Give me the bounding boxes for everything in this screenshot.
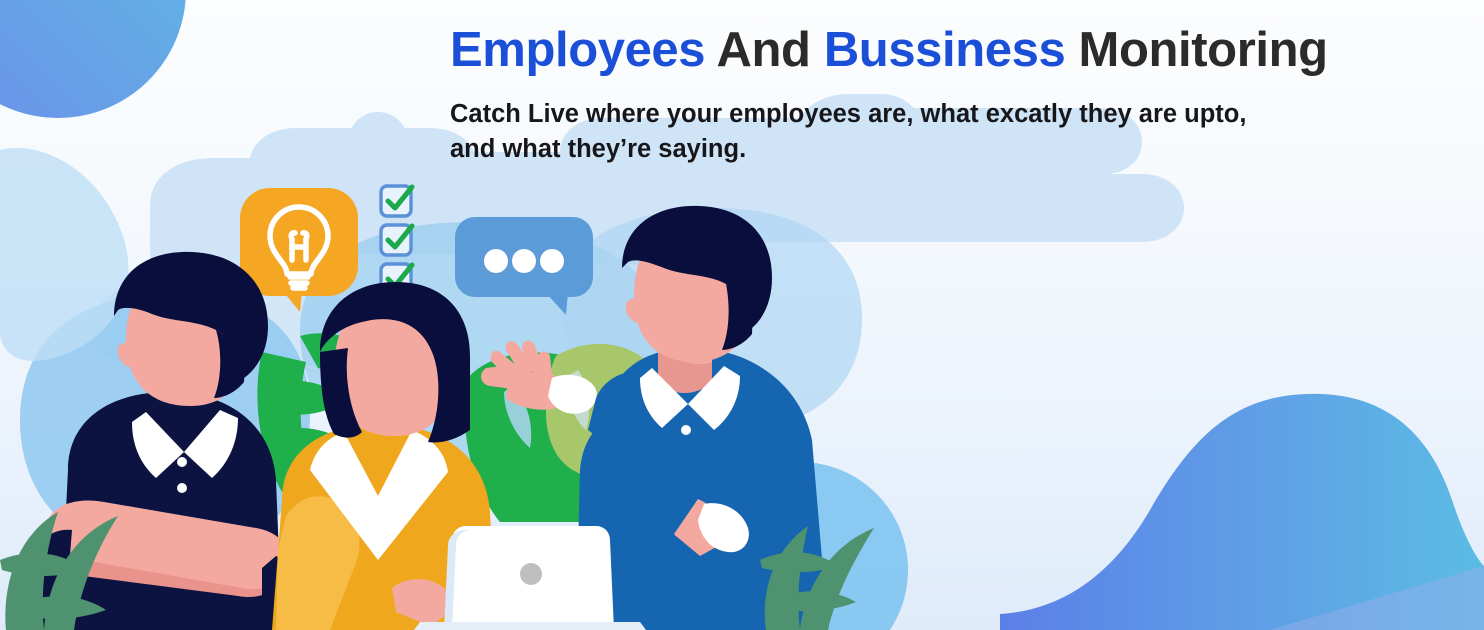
headline-segment-monitoring: Monitoring: [1065, 23, 1327, 77]
text-block: Employees And Bussiness Monitoring Catch…: [450, 24, 1460, 166]
subtitle-line-1: Catch Live where your employees are, wha…: [450, 97, 1450, 132]
headline-segment-employees: Employees: [450, 23, 705, 77]
hero-banner: Employees And Bussiness Monitoring Catch…: [0, 0, 1484, 630]
page-subtitle: Catch Live where your employees are, wha…: [450, 97, 1450, 166]
headline-segment-and: And: [705, 23, 824, 77]
subtitle-line-2: and what they’re saying.: [450, 132, 1450, 167]
page-title: Employees And Bussiness Monitoring: [450, 24, 1460, 77]
laptop-logo: [520, 563, 542, 585]
headline-segment-bussiness: Bussiness: [824, 23, 1066, 77]
laptop-base: [414, 622, 646, 630]
